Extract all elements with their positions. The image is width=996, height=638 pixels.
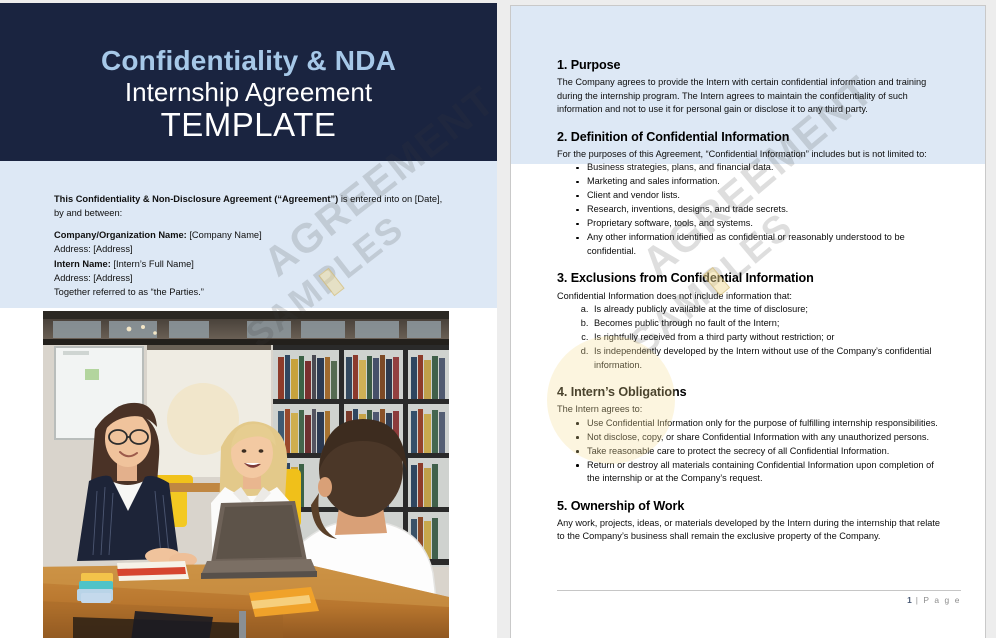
- section-4-bullet-list: Use Confidential Information only for th…: [557, 417, 942, 486]
- page-title-line-1: Confidentiality & NDA: [0, 45, 497, 76]
- intern-address-value: [Address]: [91, 273, 133, 283]
- intern-name-value: [Intern’s Full Name]: [111, 259, 194, 269]
- cover-photo: [43, 311, 449, 638]
- intro-parties-block: Company/Organization Name: [Company Name…: [54, 228, 444, 299]
- page-word-label: | P a g e: [916, 595, 961, 605]
- section-heading: 5. Ownership of Work: [557, 499, 942, 514]
- company-name-label: Company/Organization Name:: [54, 230, 187, 240]
- list-item: Client and vendor lists.: [587, 189, 942, 203]
- list-item: Business strategies, plans, and financia…: [587, 161, 942, 175]
- section-paragraph: The Company agrees to provide the Intern…: [557, 76, 942, 117]
- intern-name-label: Intern Name:: [54, 259, 111, 269]
- list-item: Proprietary software, tools, and systems…: [587, 217, 942, 231]
- list-item: Marketing and sales information.: [587, 175, 942, 189]
- section-heading: 4. Intern’s Obligations: [557, 385, 942, 400]
- section-paragraph: Confidential Information does not includ…: [557, 290, 942, 304]
- company-address-value: [Address]: [91, 244, 133, 254]
- section-5: 5. Ownership of Work Any work, projects,…: [557, 499, 942, 544]
- intro-agreement-bold: This Confidentiality & Non-Disclosure Ag…: [54, 194, 338, 204]
- cover-page: Confidentiality & NDA Internship Agreeme…: [0, 3, 497, 638]
- page-number-value: 1: [907, 595, 912, 605]
- section-heading: 1. Purpose: [557, 58, 942, 73]
- section-1: 1. Purpose The Company agrees to provide…: [557, 58, 942, 117]
- section-4: 4. Intern’s Obligations The Intern agree…: [557, 385, 942, 486]
- cover-header-band: Confidentiality & NDA Internship Agreeme…: [0, 3, 497, 161]
- meeting-photo-illustration: [43, 311, 449, 638]
- cover-intro-band: This Confidentiality & Non-Disclosure Ag…: [0, 161, 497, 308]
- section-3: 3. Exclusions from Confidential Informat…: [557, 271, 942, 372]
- page-number-label: 1 | P a g e: [557, 595, 961, 605]
- section-2: 2. Definition of Confidential Informatio…: [557, 130, 942, 259]
- list-item: Is already publicly available at the tim…: [591, 303, 942, 317]
- section-paragraph: Any work, projects, ideas, or materials …: [557, 517, 942, 544]
- list-item: Is rightfully received from a third part…: [591, 331, 942, 345]
- page-title-line-3: TEMPLATE: [0, 107, 497, 143]
- parties-line: Together referred to as “the Parties.”: [54, 287, 204, 297]
- page-title-line-2: Internship Agreement: [0, 77, 497, 108]
- clauses-content: 1. Purpose The Company agrees to provide…: [557, 58, 942, 544]
- intro-paragraph-1: This Confidentiality & Non-Disclosure Ag…: [54, 192, 444, 220]
- section-paragraph: For the purposes of this Agreement, “Con…: [557, 148, 942, 162]
- list-item: Use Confidential Information only for th…: [587, 417, 942, 431]
- list-item: Not disclose, copy, or share Confidentia…: [587, 431, 942, 445]
- list-item: Research, inventions, designs, and trade…: [587, 203, 942, 217]
- section-heading: 2. Definition of Confidential Informatio…: [557, 130, 942, 145]
- section-paragraph: The Intern agrees to:: [557, 403, 942, 417]
- footer-divider: [557, 590, 961, 591]
- section-heading: 3. Exclusions from Confidential Informat…: [557, 271, 942, 286]
- intern-address-label: Address:: [54, 273, 91, 283]
- company-address-label: Address:: [54, 244, 91, 254]
- clauses-page: 1. Purpose The Company agrees to provide…: [510, 5, 986, 638]
- section-3-alpha-list: Is already publicly available at the tim…: [557, 303, 942, 372]
- list-item: Becomes public through no fault of the I…: [591, 317, 942, 331]
- page-footer: 1 | P a g e: [557, 590, 961, 605]
- list-item: Take reasonable care to protect the secr…: [587, 445, 942, 459]
- cover-title-group: Confidentiality & NDA Internship Agreeme…: [0, 45, 497, 143]
- list-item: Is independently developed by the Intern…: [591, 345, 942, 372]
- company-name-value: [Company Name]: [187, 230, 262, 240]
- section-2-bullet-list: Business strategies, plans, and financia…: [557, 161, 942, 258]
- cover-intro-text: This Confidentiality & Non-Disclosure Ag…: [54, 192, 444, 299]
- list-item: Any other information identified as conf…: [587, 231, 942, 258]
- list-item: Return or destroy all materials containi…: [587, 459, 942, 486]
- document-preview-canvas: Confidentiality & NDA Internship Agreeme…: [0, 0, 996, 638]
